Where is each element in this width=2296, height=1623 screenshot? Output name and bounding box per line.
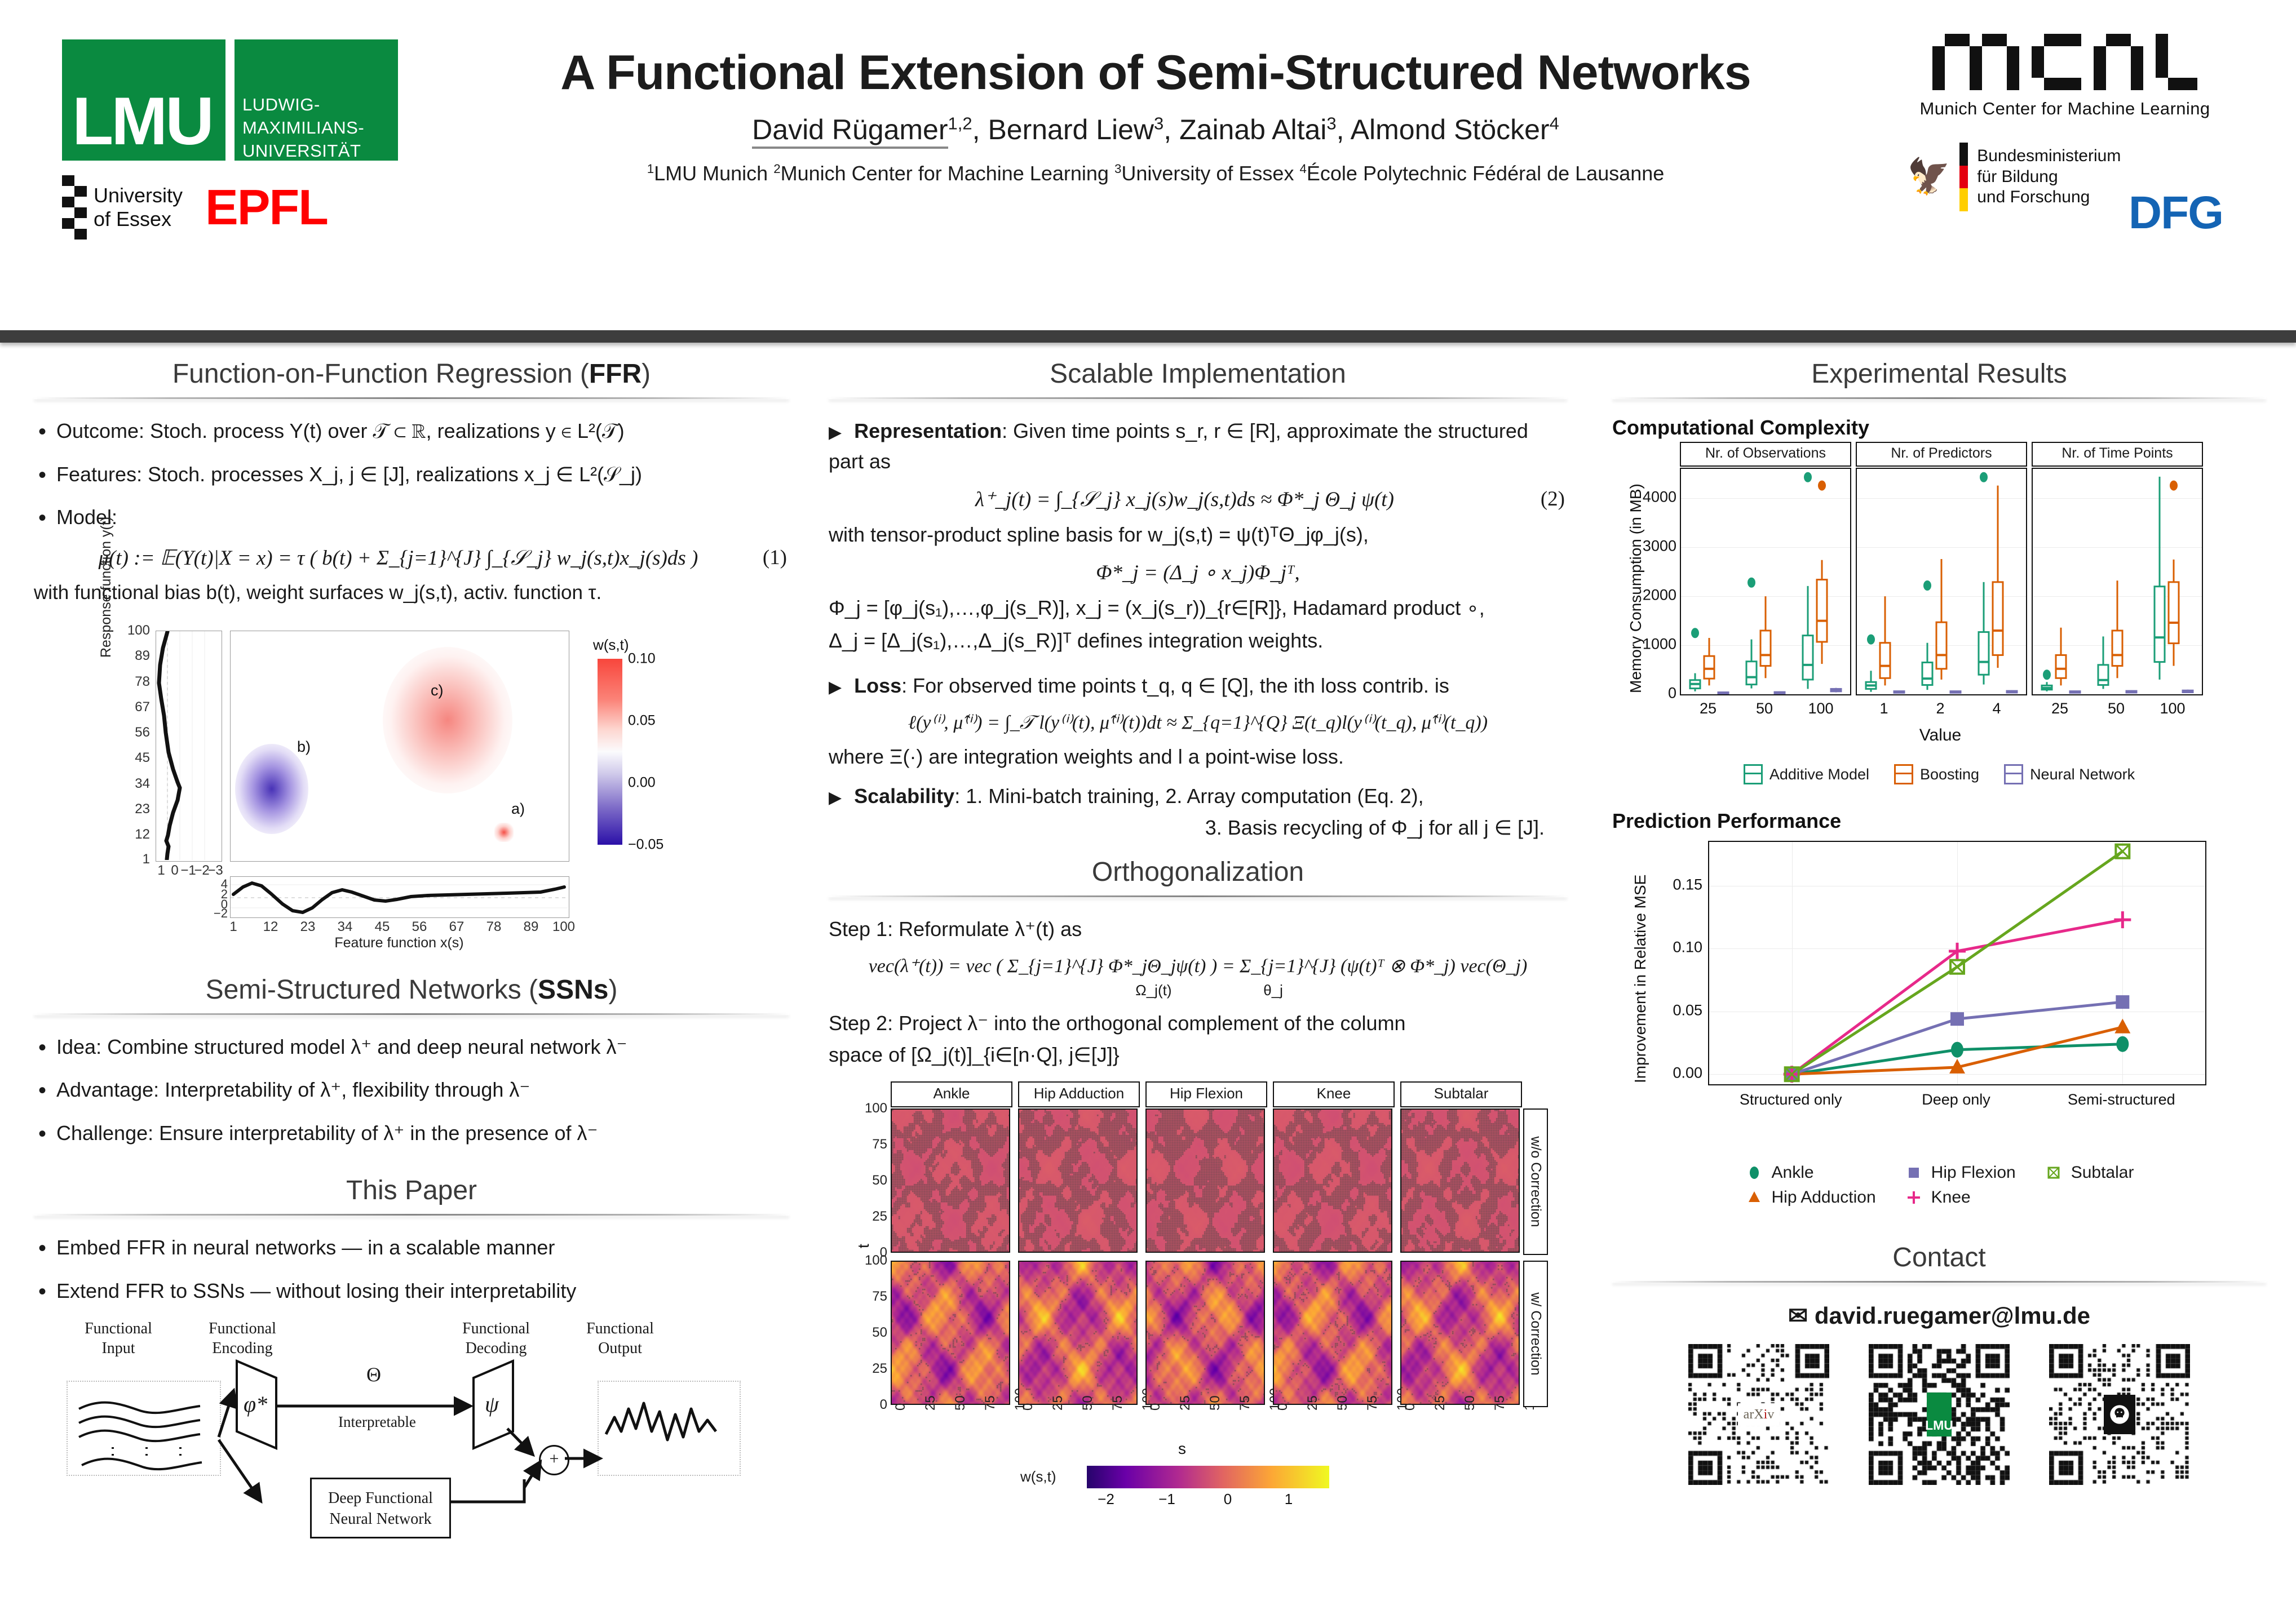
heatmap-ytick: 0 [862, 1397, 887, 1413]
heatmap-canvas [1019, 1110, 1138, 1253]
ffr-note: with functional bias b(t), weight surfac… [34, 578, 789, 608]
figA-marginal-y-plot [156, 631, 222, 862]
gridline [1681, 645, 1850, 646]
complexity-ytick: 0 [1640, 685, 1676, 702]
heatmap-row-header: w/ Correction [1523, 1261, 1548, 1407]
ssn-title-part-1: Semi-Structured Networks ( [206, 975, 538, 1005]
legend-swatch [1894, 764, 1913, 784]
legend-label: Additive Model [1769, 766, 1869, 783]
boxplot-additive-model [1857, 469, 2026, 694]
complexity-xtick: 1 [1879, 700, 1888, 717]
legend-swatch [2004, 764, 2023, 784]
section-title-this-paper: This Paper [34, 1172, 789, 1214]
complexity-legend: Additive ModelBoostingNeural Network [1612, 764, 2266, 784]
gridline [1681, 694, 1850, 695]
heatmap-cell [1273, 1108, 1392, 1253]
section-title-orthogonalization: Orthogonalization [829, 853, 1567, 895]
legend-label: Knee [1931, 1188, 1971, 1207]
performance-ytick: 0.00 [1646, 1065, 1702, 1082]
legend-item: Knee [1904, 1188, 2016, 1207]
tensor-basis-text: with tensor-product spline basis for w_j… [829, 520, 1567, 550]
affiliation-list: 1LMU Munich 2Munich Center for Machine L… [507, 162, 1804, 185]
boxplot-boosting [1681, 469, 1850, 694]
figA-x-ticks: 11223 344556 677889 100 [230, 919, 568, 936]
essex-wordmark: University of Essex [94, 184, 183, 232]
figA-marginal-x-plot [230, 876, 569, 918]
figA-xlabel: Feature function x(s) [230, 935, 568, 951]
heatmap-ytick: 25 [862, 1361, 887, 1377]
performance-series-layer [1709, 842, 2205, 1084]
complexity-xlabel: Value [1680, 726, 2201, 745]
envelope-icon: ✉ [1788, 1302, 1808, 1329]
complexity-xtick: 4 [1992, 700, 2001, 717]
author-sup-4: 4 [1550, 113, 1559, 133]
complexity-panel [1680, 468, 1851, 695]
heatmap-canvas [1401, 1110, 1520, 1253]
boxplot-boosting [1857, 469, 2026, 694]
ssn-bullet-list: Idea: Combine structured model λ⁺ and de… [34, 1032, 789, 1149]
heatmap-xtick: 75 [1237, 1395, 1253, 1411]
heatmap-xtick: 50 [1080, 1395, 1096, 1411]
arxiv-qr-code[interactable]: arXiv [1688, 1344, 1829, 1485]
boxplot-additive-model [1681, 469, 1850, 694]
lmu-letters: LMU [72, 87, 212, 155]
heatmap-ytick: 75 [862, 1289, 887, 1305]
boxplot-additive-model [1857, 469, 2026, 694]
complexity-panel [2032, 468, 2203, 695]
arch-decoder-glyph: ψ [485, 1391, 499, 1417]
german-flag-bar-icon [1959, 143, 1968, 211]
legend-marker-subtalar [2044, 1163, 2063, 1182]
heatmap-canvas [892, 1110, 1010, 1253]
heatmap-xtick: 0 [1020, 1403, 1036, 1411]
boxplot-boosting [2033, 469, 2202, 694]
author-sup-2: 3 [1154, 113, 1164, 133]
list-item: Challenge: Ensure interpretability of λ⁺… [34, 1118, 789, 1149]
heatmap-ytick: 100 [862, 1253, 887, 1269]
heatmap-xtick: 75 [983, 1395, 998, 1411]
complexity-xtick: 100 [2160, 700, 2185, 717]
list-item: Outcome: Stoch. process Y(t) over 𝒯 ⊂ ℝ,… [34, 416, 789, 447]
github-qr-center-logo [2104, 1395, 2135, 1434]
section-title-results: Experimental Results [1612, 355, 2266, 397]
lmu-logo: LMU LUDWIG- MAXIMILIANS- UNIVERSITÄT MÜN… [62, 39, 434, 161]
complexity-ytick: 4000 [1640, 489, 1676, 506]
essex-line-1: University [94, 184, 183, 207]
heatmap-xtick: 0 [1275, 1403, 1291, 1411]
definitions-line-1: Φ_j = [φ_j(s₁),…,φ_j(s_R)], x_j = (x_j(s… [829, 593, 1567, 623]
heatmap-xtick: 50 [1335, 1395, 1351, 1411]
mcml-logo: Munich Center for Machine Learning [1884, 34, 2245, 119]
author-name-2: Bernard Liew [988, 114, 1154, 145]
performance-ylabel: Improvement in Relative MSE [1631, 875, 1649, 1083]
title-block: A Functional Extension of Semi-Structure… [507, 45, 1804, 185]
equation-phi-star: Φ*_j = (Δ_j ∘ x_j)Φ_jᵀ, [829, 560, 1567, 585]
boxplot-additive-model [2033, 469, 2202, 694]
heatmap-xtick: 75 [1492, 1395, 1508, 1411]
lmu-qr-center-logo: LMU [1927, 1393, 1952, 1436]
figA-colorbar-ticks: 0.100.05 0.00−0.05 [628, 659, 696, 845]
complexity-panel [1856, 468, 2027, 695]
heatmap-ytick: 50 [862, 1173, 887, 1189]
heatmap-xtick: 25 [1305, 1395, 1321, 1411]
gridline [2033, 596, 2202, 597]
bmbf-wordmark: Bundesministerium für Bildung und Forsch… [1977, 146, 2121, 208]
legend-label: Subtalar [2071, 1163, 2134, 1182]
figA-marginal-x-yticks: 420−2 [197, 876, 229, 917]
boxplot-neural-network [1681, 469, 1850, 694]
heatmap-canvas [1401, 1262, 1520, 1405]
heatmap-canvas [1147, 1262, 1265, 1405]
figHM-xlabel: s [1178, 1440, 1186, 1458]
column-left: Function-on-Function Regression (FFR) Ou… [34, 355, 789, 1544]
author-name-4: Almond Stöcker [1351, 114, 1550, 145]
heatmap-cell [1400, 1261, 1520, 1405]
complexity-boxplot-chart: Memory Consumption (in MB)01000200030004… [1612, 442, 2249, 757]
complexity-xtick: 100 [1808, 700, 1833, 717]
boxplot-boosting [2033, 469, 2202, 694]
heatmap-canvas [1274, 1262, 1392, 1405]
author-sup-1: 1,2 [948, 113, 972, 133]
scalability-paragraph: Scalability: 1. Mini-batch training, 2. … [829, 781, 1567, 812]
list-item: Features: Stoch. processes X_j, j ∈ [J],… [34, 459, 789, 490]
heatmap-xtick: 25 [1050, 1395, 1066, 1411]
heatmap-row-header: w/o Correction [1523, 1108, 1548, 1255]
affiliation-4: École Polytechnic Fédéral de Lausanne [1307, 162, 1664, 185]
equation-1-number: (1) [763, 546, 787, 570]
figA-annotation-c: c) [431, 682, 444, 699]
lmu-line-2: MAXIMILIANS- [242, 117, 398, 140]
heatmap-cell [1400, 1108, 1520, 1253]
equation-loss: ℓ(y⁽ⁱ⁾, μ̂⁽ⁱ⁾) = ∫_𝒯 l(y⁽ⁱ⁾(t), μ̂⁽ⁱ⁾(t)… [829, 711, 1567, 734]
boxplot-neural-network [1857, 469, 2026, 694]
architecture-diagram: Functional Input Functional Encoding Fun… [73, 1319, 750, 1544]
essex-checker-icon [62, 175, 87, 240]
legend-swatch [1744, 764, 1763, 784]
heatmap-col-header: Subtalar [1400, 1081, 1522, 1107]
section-title-ffr: Function-on-Function Regression (FFR) [34, 355, 789, 397]
figA-ylabel: Response function y(t) [98, 517, 114, 658]
boxplot-neural-network [1857, 469, 2026, 694]
boxplot-boosting [1681, 469, 1850, 694]
section-rule-implementation [829, 397, 1567, 399]
weight-surface-panel-grid: t Ankle025507510002550751000255075100Hip… [851, 1079, 1545, 1485]
gridline [1681, 596, 1850, 597]
heatmap-xtick: 0 [1148, 1403, 1164, 1411]
figA-y-ticks: 1008978 675645 342312 1 [118, 631, 152, 861]
section-rule-orthogonalization [829, 895, 1567, 897]
affiliation-1: LMU Munich [654, 162, 768, 185]
boxplot-neural-network [2033, 469, 2202, 694]
loss-paragraph: Loss: For observed time points t_q, q ∈ … [829, 671, 1567, 701]
ffr-title-part-1: Function-on-Function Regression ( [172, 359, 589, 389]
heatmap-ytick: 50 [862, 1325, 887, 1341]
heatmap-ytick: 100 [862, 1101, 887, 1116]
figA-annotation-b: b) [297, 738, 311, 756]
performance-legend: AnkleHip FlexionSubtalarHip AdductionKne… [1612, 1163, 2266, 1207]
heatmap-xtick: 25 [923, 1395, 939, 1411]
column-middle: Scalable Implementation Representation: … [829, 355, 1567, 1485]
legend-marker-knee [1904, 1188, 1923, 1207]
figA-heatmap-panel: c) b) a) [230, 631, 569, 862]
representation-paragraph: Representation: Given time points s_r, r… [829, 416, 1567, 477]
gridline [1857, 694, 2026, 695]
ffr-title-part-3: ) [642, 359, 651, 389]
figA-blob-a-positive [494, 823, 514, 842]
heatmap-cell [891, 1108, 1010, 1253]
heatmap-xtick: 75 [1365, 1395, 1381, 1411]
ffr-weight-surface-figure: Response function y(t) 1008978 675645 34… [101, 624, 722, 939]
section-rule-contact [1612, 1281, 2266, 1283]
figA-blob-b-negative [235, 744, 308, 834]
page-title: A Functional Extension of Semi-Structure… [507, 45, 1804, 101]
ssn-title-part-3: ) [608, 975, 617, 1005]
section-rule-results [1612, 397, 2266, 399]
loss-note: where Ξ(·) are integration weights and l… [829, 742, 1567, 772]
mcml-subtitle: Munich Center for Machine Learning [1884, 99, 2245, 119]
heatmap-canvas [892, 1262, 1010, 1405]
performance-ytick: 0.15 [1646, 876, 1702, 893]
bmbf-line-2: für Bildung [1977, 167, 2121, 188]
ffr-bullet-list: Outcome: Stoch. process Y(t) over 𝒯 ⊂ ℝ,… [34, 416, 789, 533]
mcml-mark-icon [1932, 34, 2197, 90]
list-item: Embed FFR in neural networks — in a scal… [34, 1232, 789, 1263]
epfl-logo: EPFL [205, 179, 328, 236]
affiliation-3: University of Essex [1121, 162, 1294, 185]
performance-line-chart: Improvement in Relative MSEStructured on… [1612, 835, 2249, 1151]
author-name-3: Zainab Altai [1179, 114, 1326, 145]
boxplot-neural-network [2033, 469, 2202, 694]
complexity-ytick: 1000 [1640, 636, 1676, 653]
boxplot-boosting [1857, 469, 2026, 694]
chart-title-performance: Prediction Performance [1612, 809, 2266, 833]
lmu-line-3: UNIVERSITÄT [242, 140, 398, 163]
ssn-title-acronym: SSNs [538, 975, 608, 1005]
lmu-qr-code[interactable]: LMU [1869, 1344, 2010, 1485]
legend-item: Neural Network [2004, 764, 2135, 784]
this-paper-bullet-list: Embed FFR in neural networks — in a scal… [34, 1232, 789, 1306]
figHM-cbtick-m1: −1 [1158, 1491, 1175, 1508]
bmbf-line-3: und Forschung [1977, 187, 2121, 208]
figA-marginal-x-curve [231, 877, 568, 916]
complexity-xtick: 2 [1936, 700, 1944, 717]
boxplot-neural-network [1681, 469, 1850, 694]
list-item: Extend FFR to SSNs — without losing thei… [34, 1276, 789, 1307]
heatmap-col-header: Hip Flexion [1145, 1081, 1267, 1107]
legend-label: Hip Adduction [1772, 1188, 1876, 1207]
boxplot-additive-model [2033, 469, 2202, 694]
heatmap-xtick: 50 [1462, 1395, 1478, 1411]
performance-ytick: 0.05 [1646, 1001, 1702, 1019]
section-rule-ffr [34, 397, 789, 399]
legend-item: Additive Model [1744, 764, 1869, 784]
boxplot-additive-model [2033, 469, 2202, 694]
qr-code-row: arXiv LMU [1612, 1344, 2266, 1485]
heatmap-cell [1018, 1108, 1138, 1253]
author-sup-3: 3 [1326, 113, 1336, 133]
heatmap-cell [1145, 1261, 1265, 1405]
loss-text: : For observed time points t_q, q ∈ [Q],… [901, 674, 1449, 697]
complexity-panel-header: Nr. of Predictors [1856, 442, 2027, 467]
equation-1-body: μ(t) := 𝔼(Y(t)|X = x) = τ ( b(t) + Σ_{j=… [99, 547, 698, 570]
header-divider [0, 330, 2296, 343]
complexity-xtick: 50 [1756, 700, 1773, 717]
contact-email-line[interactable]: ✉ david.ruegamer@lmu.de [1612, 1302, 2266, 1329]
boxplot-neural-network [1857, 469, 2026, 694]
gridline [1681, 547, 1850, 548]
chart-title-complexity: Computational Complexity [1612, 416, 2266, 440]
figA-marginal-y-curve [156, 631, 220, 860]
boxplot-neural-network [1681, 469, 1850, 694]
heatmap-xtick: 0 [1403, 1403, 1418, 1411]
loss-label: Loss [854, 674, 901, 697]
federal-eagle-icon: 🦅 [1907, 159, 1950, 194]
equation-2-body: λ⁺_j(t) = ∫_{𝒮_j} x_j(s)w_j(s,t)ds ≈ Φ*_… [975, 488, 1394, 511]
poster-root: LMU LUDWIG- MAXIMILIANS- UNIVERSITÄT MÜN… [0, 0, 2296, 1623]
legend-marker-hip-flexion [1904, 1163, 1923, 1182]
equation-vec-braces: Ω_j(t) θ_j [829, 982, 1567, 999]
boxplot-additive-model [1681, 469, 1850, 694]
heatmap-ytick: 75 [862, 1137, 887, 1152]
gridline [1857, 547, 2026, 548]
heatmap-col-header: Knee [1273, 1081, 1395, 1107]
brace-label-theta: θ_j [1231, 982, 1316, 999]
boxplot-neural-network [2033, 469, 2202, 694]
figHM-cbtick-m2: −2 [1098, 1491, 1114, 1508]
figHM-cbtick-0: 0 [1224, 1491, 1232, 1508]
section-rule-ssn [34, 1013, 789, 1015]
equation-vec: vec(λ⁺(t)) = vec ( Σ_{j=1}^{J} Φ*_jΘ_jψ(… [829, 955, 1567, 977]
heatmap-xtick: 25 [1432, 1395, 1448, 1411]
section-rule-this-paper [34, 1214, 789, 1216]
lmu-mark: LMU [62, 39, 225, 161]
right-logo-group: Munich Center for Machine Learning 🦅 Bun… [1884, 34, 2245, 240]
author-name-1: David Rügamer [752, 114, 948, 149]
arch-encoder-glyph: φ* [244, 1391, 267, 1417]
brace-label-omega: Ω_j(t) [1080, 982, 1227, 999]
gridline [1857, 645, 2026, 646]
legend-label: Neural Network [2030, 766, 2135, 783]
gridline [2033, 645, 2202, 646]
list-item: Advantage: Interpretability of λ⁺, flexi… [34, 1075, 789, 1106]
arch-dnn-line-1: Deep Functional [312, 1488, 449, 1509]
gridline [1681, 498, 1850, 499]
legend-label: Boosting [1920, 766, 1979, 783]
heatmap-row-label: w/o Correction [1528, 1136, 1544, 1227]
definitions-line-2: Δ_j = [Δ_j(s₁),…,Δ_j(s_R)]ᵀ defines inte… [829, 626, 1567, 656]
arch-dnn-box: Deep Functional Neural Network [310, 1478, 451, 1538]
legend-item: Ankle [1745, 1163, 1876, 1182]
complexity-ytick: 2000 [1640, 587, 1676, 604]
arch-sum-node: + [539, 1445, 569, 1475]
equation-1: (1) μ(t) := 𝔼(Y(t)|X = x) = τ ( b(t) + Σ… [34, 546, 789, 570]
gridline [2033, 498, 2202, 499]
list-item: Idea: Combine structured model λ⁺ and de… [34, 1032, 789, 1063]
equation-2-number: (2) [1541, 487, 1565, 511]
scalability-text-1: : 1. Mini-batch training, 2. Array compu… [954, 784, 1423, 808]
legend-label: Hip Flexion [1931, 1163, 2016, 1182]
left-logo-group: LMU LUDWIG- MAXIMILIANS- UNIVERSITÄT MÜN… [62, 39, 434, 240]
performance-xtick: Structured only [1740, 1091, 1842, 1108]
legend-item: Subtalar [2044, 1163, 2134, 1182]
ortho-step-2b: space of [Ω_j(t)]_{i∈[n·Q], j∈[J]} [829, 1040, 1567, 1070]
scalability-label: Scalability [854, 784, 954, 808]
heatmap-cell [891, 1261, 1010, 1405]
complexity-panel-header: Nr. of Observations [1680, 442, 1851, 467]
performance-xtick: Deep only [1922, 1091, 1990, 1108]
section-title-ssn: Semi-Structured Networks (SSNs) [34, 971, 789, 1013]
boxplot-boosting [1681, 469, 1850, 694]
github-qr-code[interactable] [2049, 1344, 2190, 1485]
lmu-line-1: LUDWIG- [242, 94, 398, 117]
boxplot-additive-model [1857, 469, 2026, 694]
section-title-contact: Contact [1612, 1239, 2266, 1281]
bmbf-line-1: Bundesministerium [1977, 146, 2121, 167]
arch-interpretable-label: Interpretable [338, 1413, 416, 1431]
figHM-cbtick-1: 1 [1285, 1491, 1293, 1508]
university-of-essex-logo: University of Essex [62, 175, 183, 240]
heatmap-xtick: 50 [953, 1395, 968, 1411]
equation-2: (2) λ⁺_j(t) = ∫_{𝒮_j} x_j(s)w_j(s,t)ds ≈… [829, 487, 1567, 512]
heatmap-cell [1145, 1108, 1265, 1253]
gridline [2033, 694, 2202, 695]
heatmap-canvas [1147, 1110, 1265, 1253]
ffr-title-acronym: FFR [589, 359, 642, 389]
ortho-step-2a: Step 2: Project λ⁻ into the orthogonal c… [829, 1008, 1567, 1039]
contact-email[interactable]: david.ruegamer@lmu.de [1815, 1302, 2090, 1329]
complexity-xtick: 50 [2108, 700, 2125, 717]
performance-ytick: 0.10 [1646, 939, 1702, 956]
figHM-colorbar-title: w(s,t) [1020, 1468, 1056, 1485]
figA-annotation-a: a) [511, 800, 525, 818]
gridline [1857, 498, 2026, 499]
author-list: David Rügamer1,2, Bernard Liew3, Zainab … [507, 113, 1804, 146]
heatmap-xtick: 0 [893, 1403, 909, 1411]
column-right: Experimental Results Computational Compl… [1612, 355, 2266, 1485]
representation-label: Representation [854, 419, 1002, 442]
heatmap-ytick: 25 [862, 1209, 887, 1225]
performance-xtick: Semi-structured [2068, 1091, 2175, 1108]
list-item: Model: [34, 502, 789, 533]
figA-colorbar-title: w(s,t) [593, 636, 629, 654]
complexity-xtick: 25 [1700, 700, 1717, 717]
figA-blob-c-positive [383, 647, 512, 793]
boxplot-boosting [2033, 469, 2202, 694]
scalability-text-2: 3. Basis recycling of Φ_j for all j ∈ [J… [829, 813, 1567, 843]
figA-colorbar [598, 659, 622, 845]
legend-marker-ankle [1745, 1163, 1764, 1182]
arch-theta-label: Θ [366, 1363, 381, 1386]
legend-item: Hip Adduction [1745, 1188, 1876, 1207]
boxplot-boosting [1857, 469, 2026, 694]
figHM-colorbar [1087, 1466, 1329, 1488]
performance-panel [1708, 841, 2206, 1085]
heatmap-xtick: 75 [1110, 1395, 1126, 1411]
legend-item: Hip Flexion [1904, 1163, 2016, 1182]
ortho-step-1: Step 1: Reformulate λ⁺(t) as [829, 914, 1567, 944]
arch-dnn-line-2: Neural Network [312, 1509, 449, 1529]
complexity-ytick: 3000 [1640, 538, 1676, 555]
heatmap-row-label: w/ Correction [1528, 1292, 1544, 1375]
essex-line-2: of Essex [94, 207, 183, 231]
gridline [2033, 547, 2202, 548]
lmu-wordmark: LUDWIG- MAXIMILIANS- UNIVERSITÄT MÜNCHEN [235, 39, 398, 161]
gridline [1857, 596, 2026, 597]
arxiv-qr-center-logo: arXiv [1738, 1403, 1780, 1426]
boxplot-additive-model [1681, 469, 1850, 694]
poster-header: LMU LUDWIG- MAXIMILIANS- UNIVERSITÄT MÜN… [0, 0, 2296, 318]
legend-marker-hip-adduction [1745, 1188, 1764, 1207]
